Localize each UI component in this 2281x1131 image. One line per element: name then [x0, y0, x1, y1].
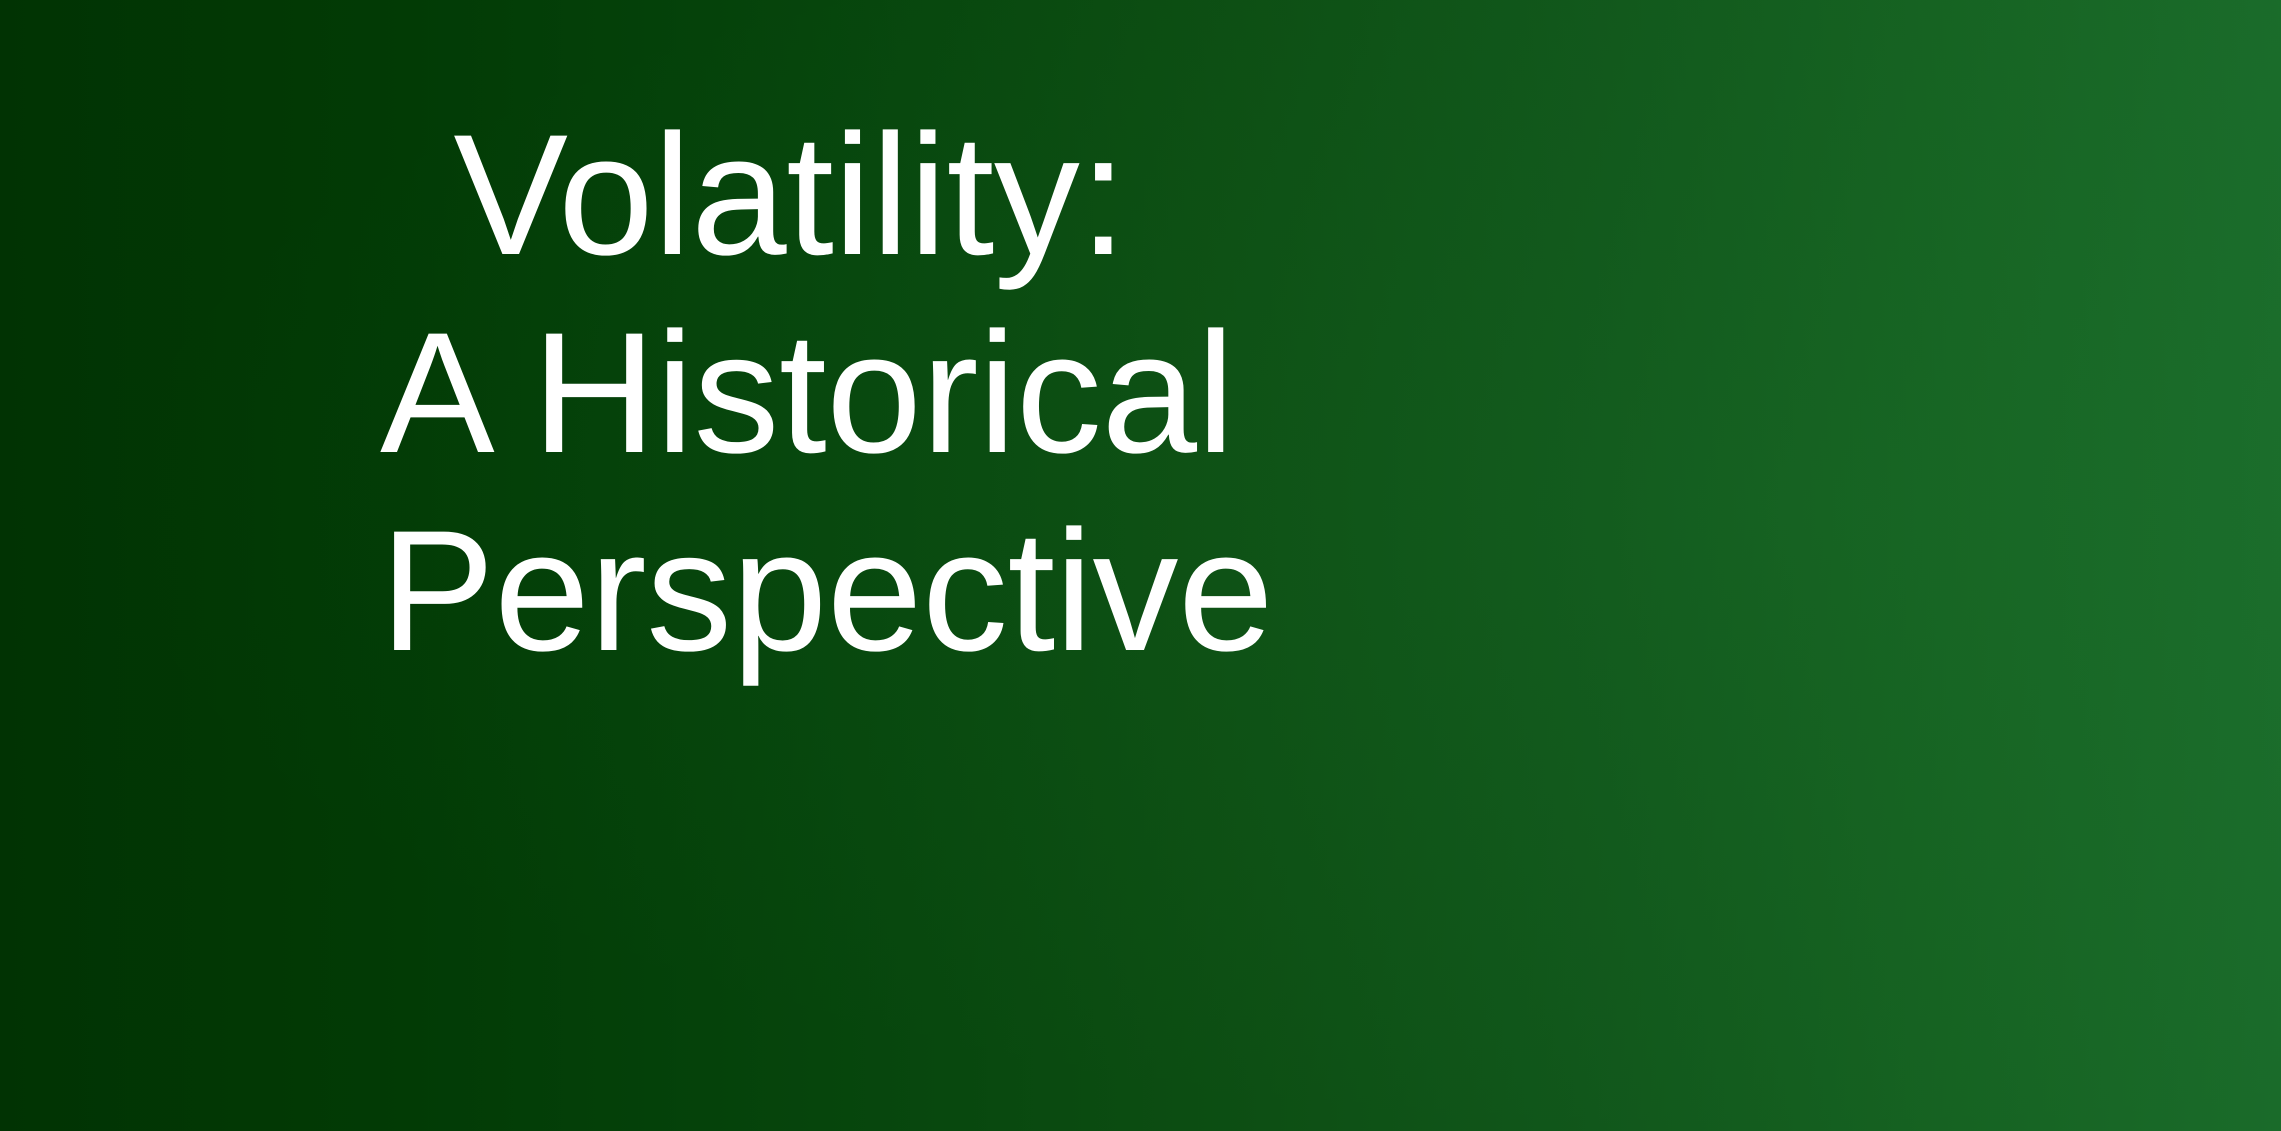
banner-title-block: Volatility: A Historical Perspective [380, 96, 1200, 690]
hero-banner: Volatility: A Historical Perspective [0, 0, 2281, 1131]
title-line-1: Volatility: [380, 96, 1200, 294]
title-line-2: A Historical [380, 294, 1200, 492]
title-line-3: Perspective [380, 492, 1200, 690]
